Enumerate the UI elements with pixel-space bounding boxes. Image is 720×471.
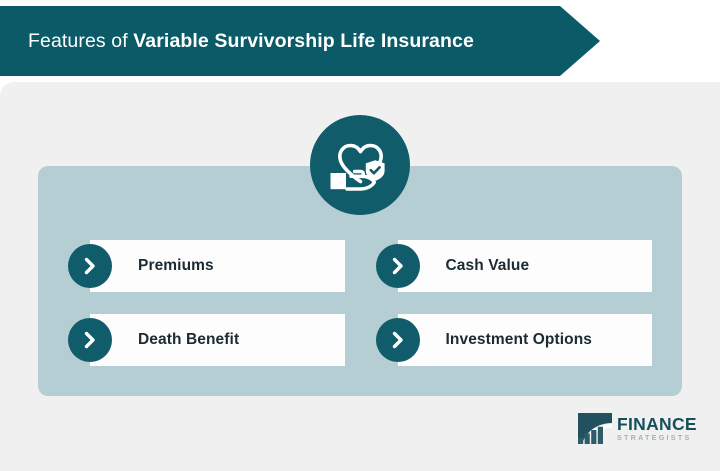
hero-icon-badge [310,115,410,215]
feature-label: Cash Value [446,257,530,275]
feature-list: Premiums Cash Value Death Benefit [68,240,652,366]
infographic-canvas: Features of Variable Survivorship Life I… [0,0,720,471]
feature-label: Death Benefit [138,331,239,349]
hand-holding-heart-shield-icon [329,137,391,193]
page-title: Features of Variable Survivorship Life I… [28,30,474,53]
list-item[interactable]: Cash Value [376,240,653,292]
brand-logo: FINANCE STRATEGISTS [578,413,697,444]
chevron-right-icon [68,318,112,362]
finance-strategists-chart-mark-icon [578,413,612,444]
feature-label: Premiums [138,257,214,275]
chevron-right-icon [68,244,112,288]
brand-wordmark: FINANCE STRATEGISTS [617,416,697,442]
chevron-right-icon [376,244,420,288]
brand-name: FINANCE [617,416,697,434]
brand-subtitle: STRATEGISTS [617,434,697,441]
list-item[interactable]: Premiums [68,240,345,292]
feature-card[interactable]: Death Benefit [90,314,345,366]
list-item[interactable]: Investment Options [376,314,653,366]
feature-card[interactable]: Premiums [90,240,345,292]
header-banner: Features of Variable Survivorship Life I… [0,6,600,76]
feature-card[interactable]: Cash Value [398,240,653,292]
page-title-emphasis: Variable Survivorship Life Insurance [133,30,474,52]
list-item[interactable]: Death Benefit [68,314,345,366]
chevron-right-icon [376,318,420,362]
feature-card[interactable]: Investment Options [398,314,653,366]
page-title-prefix: Features of [28,30,133,52]
feature-label: Investment Options [446,331,592,349]
